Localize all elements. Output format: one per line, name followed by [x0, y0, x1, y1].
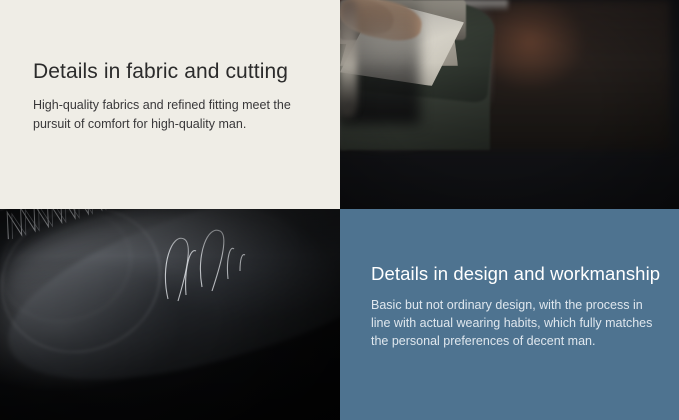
photo-vignette [340, 0, 679, 209]
photo-vignette [0, 209, 340, 420]
panel-stitch-photo [0, 209, 340, 420]
panel-design-card: Details in design and workmanship Basic … [340, 209, 679, 420]
design-card-text-block: Details in design and workmanship Basic … [371, 261, 663, 350]
design-card-body: Basic but not ordinary design, with the … [371, 296, 663, 350]
fabric-card-body: High-quality fabrics and refined fitting… [33, 96, 318, 134]
feature-grid: Details in fabric and cutting High-quali… [0, 0, 679, 420]
design-card-heading: Details in design and workmanship [371, 261, 663, 286]
panel-sewing-photo [340, 0, 679, 209]
fabric-card-text-block: Details in fabric and cutting High-quali… [33, 58, 318, 134]
fabric-card-heading: Details in fabric and cutting [33, 58, 318, 85]
panel-fabric-card: Details in fabric and cutting High-quali… [0, 0, 340, 209]
